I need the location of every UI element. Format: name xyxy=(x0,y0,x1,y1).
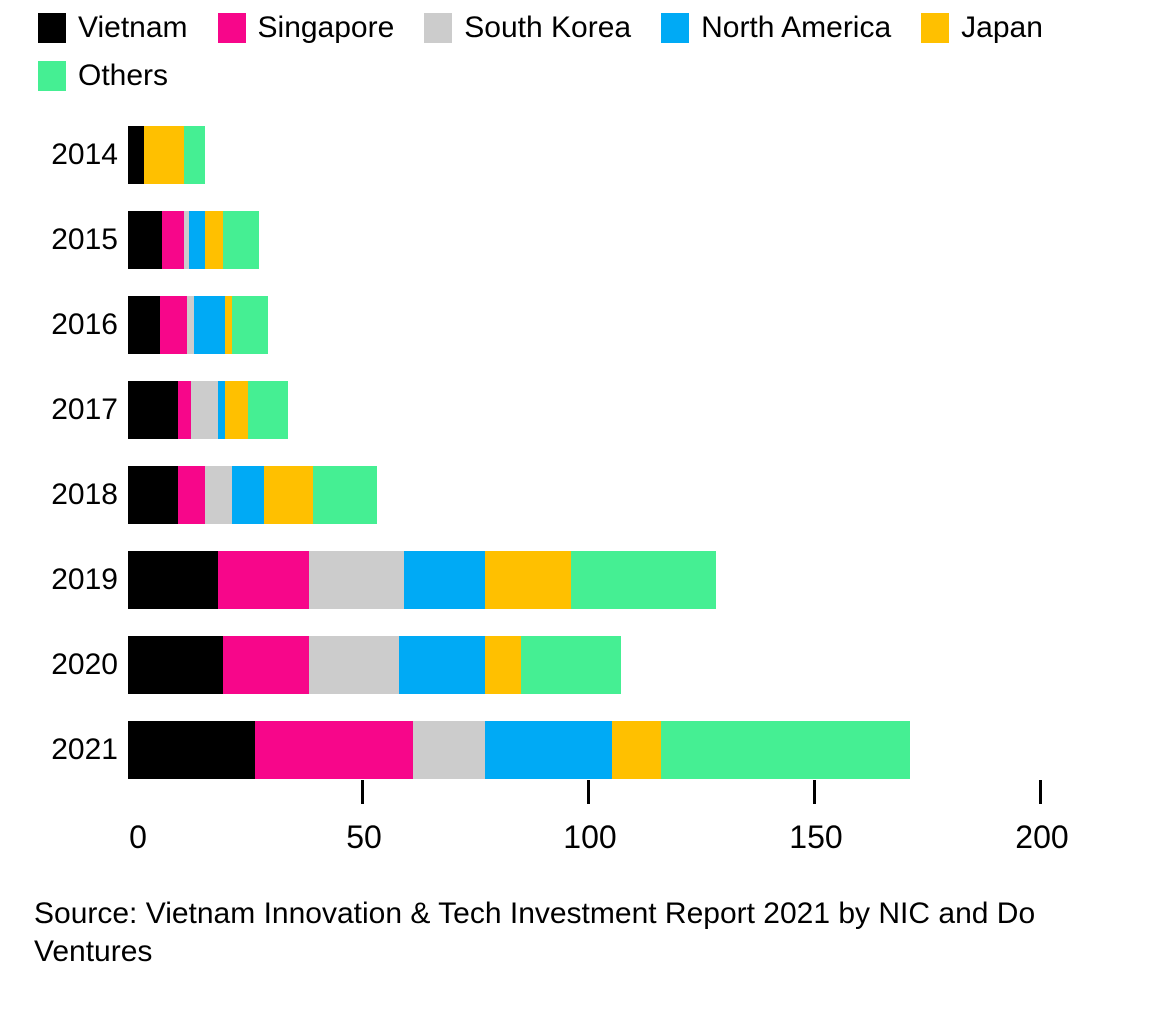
stacked-bar[interactable] xyxy=(128,721,910,779)
bar-segment-north-america[interactable] xyxy=(485,721,612,779)
bar-segment-vietnam[interactable] xyxy=(128,636,223,694)
y-axis-tick-label: 2021 xyxy=(0,735,128,765)
bar-segment-north-america[interactable] xyxy=(189,211,205,269)
legend-swatch-icon xyxy=(661,13,689,43)
x-axis-tick-label: 150 xyxy=(789,820,842,854)
chart-row: 2020 xyxy=(0,622,1170,707)
legend-item-north-america[interactable]: North America xyxy=(661,8,891,48)
bar-segment-japan[interactable] xyxy=(485,551,571,609)
bar-segment-north-america[interactable] xyxy=(194,296,226,354)
bar-segment-japan[interactable] xyxy=(225,381,248,439)
stacked-bar[interactable] xyxy=(128,636,621,694)
legend-item-japan[interactable]: Japan xyxy=(921,8,1043,48)
bar-segment-north-america[interactable] xyxy=(404,551,485,609)
x-axis-tick xyxy=(587,780,590,804)
y-axis-tick-label: 2016 xyxy=(0,310,128,340)
legend-swatch-icon xyxy=(38,61,66,91)
legend-swatch-icon xyxy=(38,13,66,43)
legend-swatch-icon xyxy=(218,13,246,43)
legend-item-others[interactable]: Others xyxy=(38,56,168,96)
chart-row: 2018 xyxy=(0,452,1170,537)
bar-segment-japan[interactable] xyxy=(485,636,521,694)
stacked-bar[interactable] xyxy=(128,381,288,439)
x-axis: 050100150200 xyxy=(0,780,1170,870)
x-axis-tick-label: 0 xyxy=(129,820,147,854)
bar-segment-south-korea[interactable] xyxy=(309,551,404,609)
bar-segment-others[interactable] xyxy=(248,381,289,439)
legend-item-vietnam[interactable]: Vietnam xyxy=(38,8,188,48)
x-axis-tick-label: 50 xyxy=(346,820,382,854)
chart-row: 2019 xyxy=(0,537,1170,622)
bar-segment-japan[interactable] xyxy=(205,211,223,269)
bar-segment-north-america[interactable] xyxy=(399,636,485,694)
bar-segment-vietnam[interactable] xyxy=(128,211,162,269)
bar-segment-japan[interactable] xyxy=(612,721,662,779)
bar-segment-others[interactable] xyxy=(661,721,910,779)
stacked-bar[interactable] xyxy=(128,551,716,609)
chart-row: 2016 xyxy=(0,282,1170,367)
bar-segment-north-america[interactable] xyxy=(218,381,225,439)
bar-segment-others[interactable] xyxy=(521,636,620,694)
bar-segment-south-korea[interactable] xyxy=(187,296,194,354)
bar-segment-singapore[interactable] xyxy=(178,466,205,524)
bar-segment-singapore[interactable] xyxy=(218,551,308,609)
bar-segment-vietnam[interactable] xyxy=(128,296,160,354)
stacked-bar[interactable] xyxy=(128,126,205,184)
legend-item-south-korea[interactable]: South Korea xyxy=(424,8,631,48)
y-axis-tick-label: 2014 xyxy=(0,140,128,170)
x-axis-tick-label: 100 xyxy=(563,820,616,854)
chart-row: 2014 xyxy=(0,112,1170,197)
bar-segment-singapore[interactable] xyxy=(178,381,192,439)
bar-segment-singapore[interactable] xyxy=(255,721,413,779)
y-axis-tick-label: 2015 xyxy=(0,225,128,255)
bar-segment-japan[interactable] xyxy=(225,296,232,354)
x-axis-tick-label: 200 xyxy=(1015,820,1068,854)
chart-page: VietnamSingaporeSouth KoreaNorth America… xyxy=(0,0,1170,1013)
stacked-bar[interactable] xyxy=(128,466,377,524)
source-note: Source: Vietnam Innovation & Tech Invest… xyxy=(34,895,1104,971)
chart-plot-area: 20142015201620172018201920202021 xyxy=(0,112,1170,792)
legend-item-label: South Korea xyxy=(464,13,631,43)
stacked-bar[interactable] xyxy=(128,296,268,354)
legend-item-label: Japan xyxy=(961,13,1043,43)
bar-segment-vietnam[interactable] xyxy=(128,381,178,439)
bar-segment-others[interactable] xyxy=(313,466,376,524)
y-axis-tick-label: 2019 xyxy=(0,565,128,595)
y-axis-tick-label: 2017 xyxy=(0,395,128,425)
x-axis-tick xyxy=(1039,780,1042,804)
stacked-bar[interactable] xyxy=(128,211,259,269)
legend-item-label: North America xyxy=(701,13,891,43)
y-axis-tick-label: 2020 xyxy=(0,650,128,680)
bar-segment-vietnam[interactable] xyxy=(128,126,144,184)
x-axis-tick xyxy=(813,780,816,804)
legend-item-label: Others xyxy=(78,61,168,91)
legend-swatch-icon xyxy=(424,13,452,43)
bar-segment-vietnam[interactable] xyxy=(128,466,178,524)
bar-segment-south-korea[interactable] xyxy=(413,721,485,779)
bar-segment-vietnam[interactable] xyxy=(128,551,218,609)
bar-segment-singapore[interactable] xyxy=(162,211,185,269)
legend-item-singapore[interactable]: Singapore xyxy=(218,8,395,48)
chart-row: 2017 xyxy=(0,367,1170,452)
bar-segment-north-america[interactable] xyxy=(232,466,264,524)
chart-row: 2015 xyxy=(0,197,1170,282)
bar-segment-others[interactable] xyxy=(184,126,204,184)
bar-segment-singapore[interactable] xyxy=(223,636,309,694)
legend-item-label: Singapore xyxy=(258,13,395,43)
bar-segment-others[interactable] xyxy=(223,211,259,269)
bar-segment-south-korea[interactable] xyxy=(205,466,232,524)
bar-segment-south-korea[interactable] xyxy=(191,381,218,439)
chart-legend: VietnamSingaporeSouth KoreaNorth America… xyxy=(38,8,1138,104)
bar-segment-japan[interactable] xyxy=(264,466,314,524)
x-axis-tick xyxy=(361,780,364,804)
bar-segment-south-korea[interactable] xyxy=(309,636,399,694)
y-axis-tick-label: 2018 xyxy=(0,480,128,510)
bar-segment-japan[interactable] xyxy=(144,126,185,184)
legend-swatch-icon xyxy=(921,13,949,43)
bar-segment-vietnam[interactable] xyxy=(128,721,255,779)
legend-item-label: Vietnam xyxy=(78,13,188,43)
bar-segment-singapore[interactable] xyxy=(160,296,187,354)
bar-segment-others[interactable] xyxy=(232,296,268,354)
bar-segment-others[interactable] xyxy=(571,551,716,609)
